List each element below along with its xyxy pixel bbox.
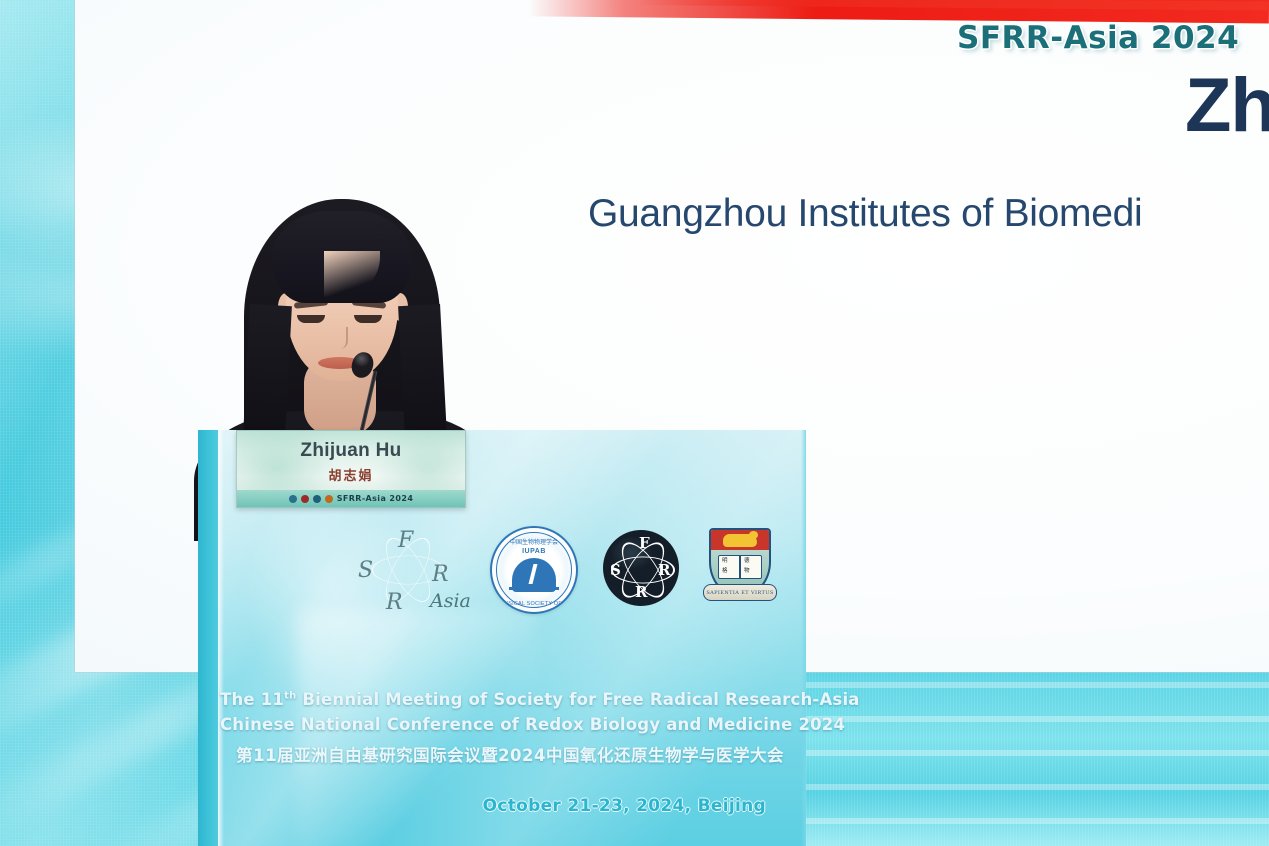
slide-speaker-name: Zh [1185,62,1269,149]
iupab-ring-bottom-text: BIOPHYSICAL SOCIETY OF CHINA [490,601,578,607]
podium-title-chinese: 第11届亚洲自由基研究国际会议暨2024中国氧化还原生物学与医学大会 [220,742,790,766]
lion-icon [723,534,757,547]
eye-left [297,315,325,323]
sfrr-logo-icon: S F R R [603,530,679,606]
sfrr-asia-sublabel: Asia [430,590,471,612]
podium-right-edge [801,430,806,846]
hku-crest-logo-icon: 明 德 格 物 SAPIENTIA ET VIRTUS [703,524,775,608]
hku-crest-mark-icon [325,495,333,503]
screenshot-stage: SFRR-Asia 2024 Zh Guangzhou Institutes o… [0,0,1269,846]
hku-book-char-4: 物 [744,568,750,574]
nameplate-name-chinese: 胡志娟 [237,465,465,484]
podium-title-ordinal: th [284,691,296,702]
podium-conference-text: The 11th Biennial Meeting of Society for… [220,688,790,816]
nameplate-name-english: Zhijuan Hu [237,440,465,462]
podium-title-rest: Biennial Meeting of Society for Free Rad… [296,690,859,709]
sfrr-letter-r2: R [635,583,647,601]
sfrr-letter-f: F [639,534,650,552]
sfrr-asia-letter-f: F [398,528,413,553]
backdrop-banded-panel [806,668,1269,846]
hku-motto-text: SAPIENTIA ET VIRTUS [706,590,773,596]
nameplate-footer-bar: SFRR-Asia 2024 [237,490,465,507]
hku-motto-scroll: SAPIENTIA ET VIRTUS [703,584,777,601]
iupab-biophysical-society-china-logo-icon: 中国生物物理学会 IUPAB BIOPHYSICAL SOCIETY OF CH… [490,526,578,614]
iupab-acronym: IUPAB [522,548,546,555]
sfrr-letter-s: S [610,561,621,579]
iupab-ring-top-text: 中国生物物理学会 [510,537,558,546]
slide-kicker-text: SFRR-Asia 2024 [957,20,1239,56]
sfrr-asia-mark-icon [289,495,297,503]
society-seal-mark-icon [301,495,309,503]
slide-affiliation: Guangzhou Institutes of Biomedi [588,192,1142,236]
speaker-nameplate: Zhijuan Hu 胡志娟 SFRR-Asia 2024 [236,430,466,508]
backdrop-banded-texture [806,668,1269,846]
hku-book-char-2: 德 [744,558,750,564]
podium-title-prefix: The 11 [220,690,284,709]
hku-book-char-3: 格 [722,568,728,574]
nameplate-footer-text: SFRR-Asia 2024 [337,494,414,503]
hair-fringe [272,211,412,303]
sfrr-asia-letter-r1: R [432,562,449,587]
nose [334,327,348,349]
sfrr-mark-icon [313,495,321,503]
podium-logo-row: S F R R Asia 中国生物物理学会 IUPAB BIOPHYSICAL … [348,520,768,620]
eye-right [354,315,382,323]
podium-title-line-1: The 11th Biennial Meeting of Society for… [220,688,790,713]
podium-side-panel [198,430,220,846]
hku-book-char-1: 明 [722,558,728,564]
sfrr-asia-logo-icon: S F R R Asia [348,520,478,620]
sfrr-asia-letter-s: S [358,558,373,583]
sfrr-letter-r1: R [658,561,670,579]
sfrr-asia-letter-r2: R [386,590,403,615]
podium-date-line: October 21-23, 2024, Beijing [220,796,790,816]
podium: Zhijuan Hu 胡志娟 SFRR-Asia 2024 S F R R As… [198,430,806,846]
podium-title-line-2: Chinese National Conference of Redox Bio… [220,713,790,738]
